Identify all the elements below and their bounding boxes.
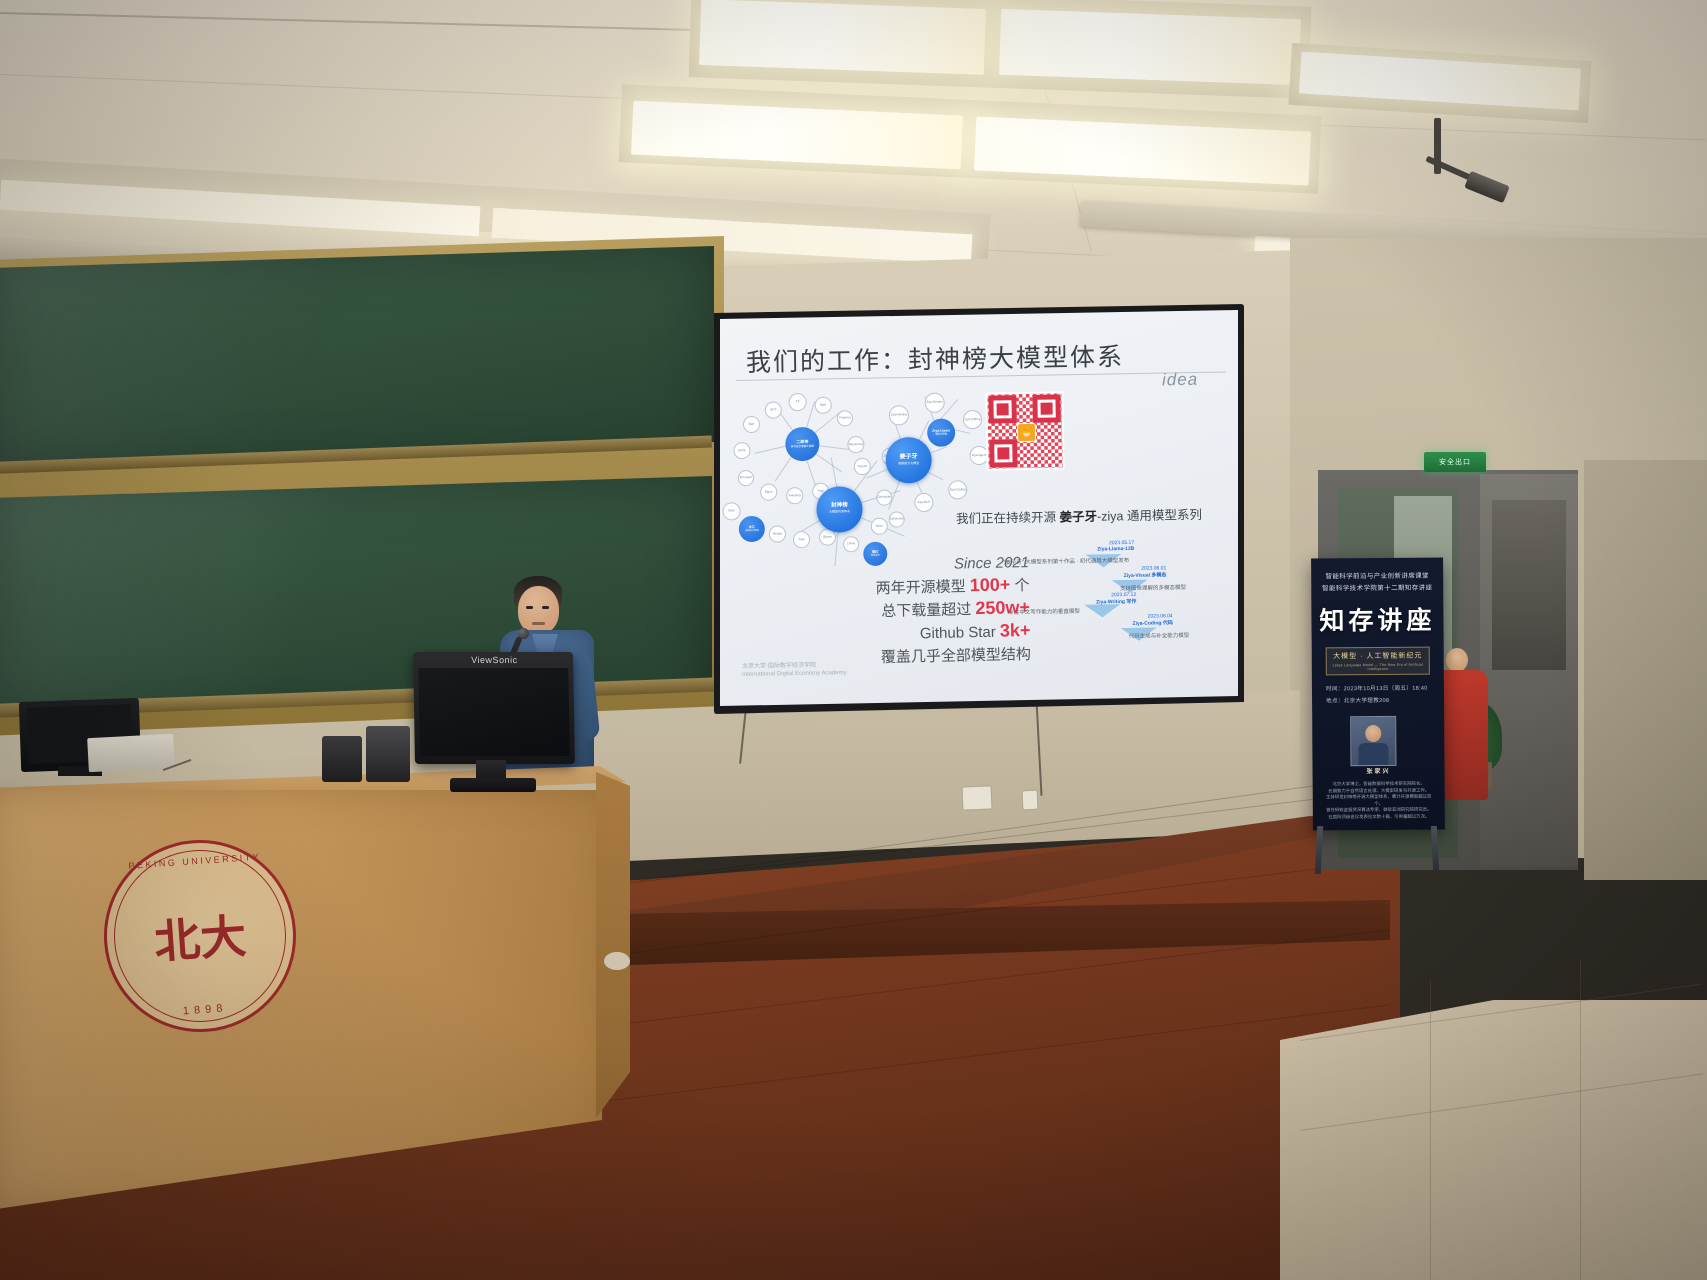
node-hub-taiyi: 太乙多模态大模型 [739, 516, 765, 542]
node-leaf: T5 [788, 393, 806, 411]
monitor-brand-label: ViewSonic [471, 655, 518, 665]
node-hub-ziya: 姜子牙智能助力大模型 [885, 437, 932, 484]
node-leaf: Mengzi [769, 525, 786, 542]
poster-line2: 智能科学技术学院第十二期知存讲座 [1311, 582, 1443, 593]
pku-logo: 北大 PEKING UNIVERSITY 1898 [98, 834, 303, 1039]
stat-row: 两年开源模型 100+ 个 [839, 574, 1029, 599]
roadmap-item: 2023.08.04 Ziya-Coding 代码 [1132, 613, 1173, 627]
presenter-eye [526, 606, 533, 609]
qr-caption-suffix: -ziya 通用模型系列 [1097, 508, 1202, 524]
node-leaf: Llama [843, 536, 859, 552]
poster-subtitle-cn: 大模型 · 人工智能新纪元 [1327, 651, 1429, 662]
qr-caption-bold: 姜子牙 [1059, 510, 1097, 525]
poster-speaker-bio: 北京大学博士，智能数据科学技术研究院院长。 长期致力于自然语言处理、大模型研发与… [1323, 781, 1435, 821]
stats-block: Since 2021 两年开源模型 100+ 个 总下载量超过 250w+ Gi… [839, 554, 1031, 668]
slide-footer: 北京大学·国际数字经济学院 International Digital Econ… [742, 661, 847, 679]
stat-value: 100+ [970, 574, 1011, 595]
wall-outlet [1022, 790, 1039, 811]
qr-caption-prefix: 我们正在持续开源 [956, 510, 1060, 526]
floor-object [604, 952, 630, 970]
node-leaf: Sunsimiao [889, 511, 905, 527]
monitor-screen[interactable] [418, 668, 570, 756]
ceiling-light [999, 9, 1301, 85]
node-hub-fengshenbang: 封神榜大模型开源体系 [816, 486, 863, 533]
roadmap-desc: 支持图像理解的多模态模型 [1120, 583, 1186, 592]
roadmap-desc: 代码生成与补全能力模型 [1129, 631, 1190, 640]
node-leaf: Zhouwen [738, 470, 754, 486]
node-leaf: Ziya-Reader [924, 393, 944, 413]
presenter-head [518, 586, 559, 634]
keyboard[interactable] [87, 734, 175, 772]
ceiling-light [699, 0, 986, 75]
stat-prefix: 总下载量超过 [881, 601, 976, 620]
node-hub-erlangshen: 二郎神自然语言理解大模型 [785, 427, 820, 462]
node-leaf: Ziya-BLIP [914, 493, 933, 512]
roadmap-item: 2023.05.17 Ziya-Llama-13B [1097, 540, 1134, 553]
roadmap-title: Ziya-Visual 多模态 [1124, 571, 1167, 579]
roadmap-item: 2023.06.01 Ziya-Visual 多模态 [1124, 565, 1167, 579]
node-leaf: Solar [722, 502, 740, 520]
roadmap-timeline: 2023.05.17 Ziya-Llama-13B "姜子牙" 大模型系列第十作… [1019, 536, 1231, 650]
stat-since: Since 2021 [839, 554, 1029, 575]
node-leaf: Ziya-Editing [963, 410, 982, 429]
node-leaf: Ziya-Coding [948, 480, 967, 499]
stat-prefix: Github Star [920, 624, 1000, 643]
right-wall-far [1584, 460, 1707, 880]
roadmap-title: Ziya-Llama-13B [1097, 546, 1134, 553]
qr-finder-icon [988, 395, 1016, 423]
podium-side-panel [596, 772, 630, 1118]
poster-place: 地点：北京大学理教208 [1326, 696, 1444, 705]
door-panel [1492, 500, 1566, 670]
poster-subtitle-en: Large Language Model — The New Era of Ar… [1327, 663, 1429, 672]
qr-code[interactable]: 🐣 [985, 391, 1064, 470]
qr-finder-icon [989, 439, 1017, 467]
qr-finder-icon [1032, 394, 1060, 422]
node-hub-ziya-llama: Ziya-Llama通用大模型 [927, 418, 955, 446]
node-leaf: Pegasus [837, 410, 853, 426]
presenter-eye [542, 606, 549, 609]
stat-prefix: 两年开源模型 [875, 578, 970, 597]
computer-monitor[interactable]: ViewSonic [413, 652, 575, 764]
node-leaf: Yuan [793, 531, 810, 548]
event-poster: 智能科学前沿与产业创新讲席课堂 智能科学技术学院第十二期知存讲座 知存讲座 大模… [1311, 558, 1445, 831]
qr-caption: 我们正在持续开源 姜子牙-ziya 通用模型系列 [956, 504, 1202, 527]
poster-line1: 智能科学前沿与产业创新讲席课堂 [1311, 570, 1443, 581]
node-leaf: Bigan [760, 484, 777, 501]
roadmap-desc: 专注中文写作能力的垂直模型 [1008, 607, 1080, 616]
node-leaf: Neox [871, 518, 888, 535]
exit-sign: 安全出口 [1424, 452, 1486, 472]
stat-row: 覆盖几乎全部模型结构 [841, 643, 1031, 668]
stat-row: 总下载量超过 250w+ [840, 597, 1030, 622]
node-leaf: Bert [743, 416, 760, 433]
presenter-mouth [532, 622, 545, 625]
equipment-box [366, 726, 410, 782]
poster-speaker-name: 张家兴 [1313, 766, 1445, 776]
slide-title: 我们的工作：封神榜大模型体系 [746, 337, 1125, 379]
lecture-hall-photo: 我们的工作：封神榜大模型体系 idea [0, 0, 1707, 1280]
idea-logo: idea [1162, 370, 1198, 391]
qr-center-logo: 🐣 [1017, 423, 1036, 442]
node-leaf: Bart [815, 397, 832, 414]
node-leaf: Ernie [733, 442, 750, 459]
monitor-base [450, 778, 536, 792]
poster-title: 知存讲座 [1311, 601, 1443, 638]
roadmap-title: Ziya-Coding 代码 [1132, 619, 1172, 627]
tiled-floor [1280, 1000, 1707, 1280]
poster-time: 时间：2023年10月13日（周五）18:40 [1326, 684, 1444, 693]
model-network-diagram: Bert GPT T5 Bart Pegasus Ernie Wenzhong … [728, 388, 1001, 573]
node-leaf: Ziya-Writing [889, 405, 909, 425]
node-leaf: GPT [765, 401, 782, 418]
desktop-speaker [322, 736, 362, 782]
stat-row: Github Star 3k+ [840, 620, 1030, 645]
presentation-slide: 我们的工作：封神榜大模型体系 idea [720, 310, 1238, 706]
speaker-headshot [1350, 716, 1396, 766]
bystander-head [1446, 648, 1468, 672]
node-leaf: Randeng [786, 487, 803, 504]
wall-outlet [962, 785, 993, 810]
